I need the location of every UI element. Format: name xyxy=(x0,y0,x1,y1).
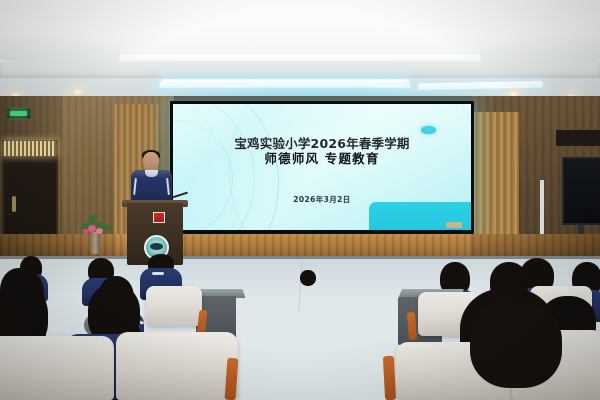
flower-bloom xyxy=(83,229,89,234)
wall-board-right xyxy=(556,130,600,146)
wall-plate xyxy=(446,222,462,228)
flower-arrangement xyxy=(82,212,109,236)
photo-scene: 宝鸡实验小学2026年春季学期 师德师风 专题教育 2026年3月2日 xyxy=(0,0,600,400)
podium-red-sign xyxy=(153,212,165,223)
door-handle[interactable] xyxy=(12,196,16,212)
ceiling-cove xyxy=(0,62,600,78)
door-transom-light xyxy=(4,141,56,156)
screen-light-wash xyxy=(173,104,471,230)
exit-sign-glow xyxy=(10,111,27,116)
chair[interactable] xyxy=(0,336,114,400)
flower-bloom xyxy=(96,228,103,234)
school-emblem-inner xyxy=(150,243,163,250)
wainscot-shadow-right xyxy=(470,234,600,258)
side-monitor xyxy=(562,157,600,225)
armrest xyxy=(383,356,396,400)
chair[interactable] xyxy=(146,286,202,326)
downlight xyxy=(72,89,83,95)
exit-sign xyxy=(6,108,31,119)
presenter-collar xyxy=(145,170,158,177)
flower-bloom xyxy=(88,225,96,232)
projection-screen[interactable]: 宝鸡实验小学2026年春季学期 师德师风 专题教育 2026年3月2日 xyxy=(173,104,471,230)
chair[interactable] xyxy=(116,332,238,400)
